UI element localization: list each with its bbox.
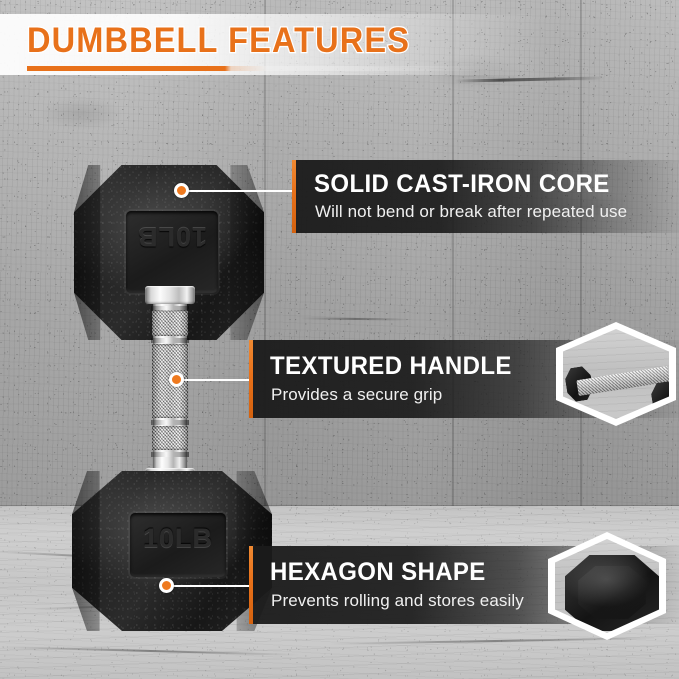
callout-leader-line bbox=[180, 379, 251, 381]
callout-subtitle: Prevents rolling and stores easily bbox=[271, 591, 524, 611]
infographic-canvas: DUMBBELL FEATURES 10LB bbox=[0, 0, 679, 679]
page-title: DUMBBELL FEATURES bbox=[27, 21, 410, 61]
title-underline bbox=[27, 66, 627, 71]
callout-accent-bar bbox=[292, 160, 296, 233]
handle-ring bbox=[151, 306, 189, 311]
callout-title: HEXAGON SHAPE bbox=[270, 558, 486, 587]
handle-knurl-band bbox=[152, 426, 188, 450]
callout-title: TEXTURED HANDLE bbox=[270, 352, 512, 381]
handle-knurl-band bbox=[152, 310, 188, 336]
dumbbell-handle bbox=[151, 286, 189, 486]
hex-end-face-thumbnail bbox=[548, 532, 666, 640]
dumbbell-bottom-weight: 10LB bbox=[72, 471, 272, 631]
handle-collar bbox=[145, 286, 195, 304]
handle-ring bbox=[151, 338, 189, 343]
callout-marker-dot bbox=[159, 578, 174, 593]
wall-seam bbox=[452, 0, 454, 516]
dumbbell-product-image: 10LB 10LB bbox=[52, 158, 272, 636]
callout-subtitle: Will not bend or break after repeated us… bbox=[315, 202, 627, 222]
callout-title: SOLID CAST-IRON CORE bbox=[314, 170, 610, 199]
callout-marker-dot bbox=[174, 183, 189, 198]
handle-ring bbox=[151, 452, 189, 457]
callout-accent-bar bbox=[249, 546, 253, 624]
callout-marker-dot bbox=[169, 372, 184, 387]
callout-subtitle: Provides a secure grip bbox=[271, 385, 442, 405]
callout-leader-line bbox=[186, 190, 294, 192]
handle-ring bbox=[151, 420, 189, 425]
weight-label-bottom: 10LB bbox=[134, 523, 222, 554]
callout-leader-line bbox=[170, 585, 251, 587]
weight-label-top: 10LB bbox=[137, 221, 207, 252]
handle-closeup-thumbnail bbox=[556, 322, 676, 426]
callout-accent-bar bbox=[249, 340, 253, 418]
callout-solid-cast-iron-core[interactable]: SOLID CAST-IRON CORE Will not bend or br… bbox=[292, 160, 679, 233]
